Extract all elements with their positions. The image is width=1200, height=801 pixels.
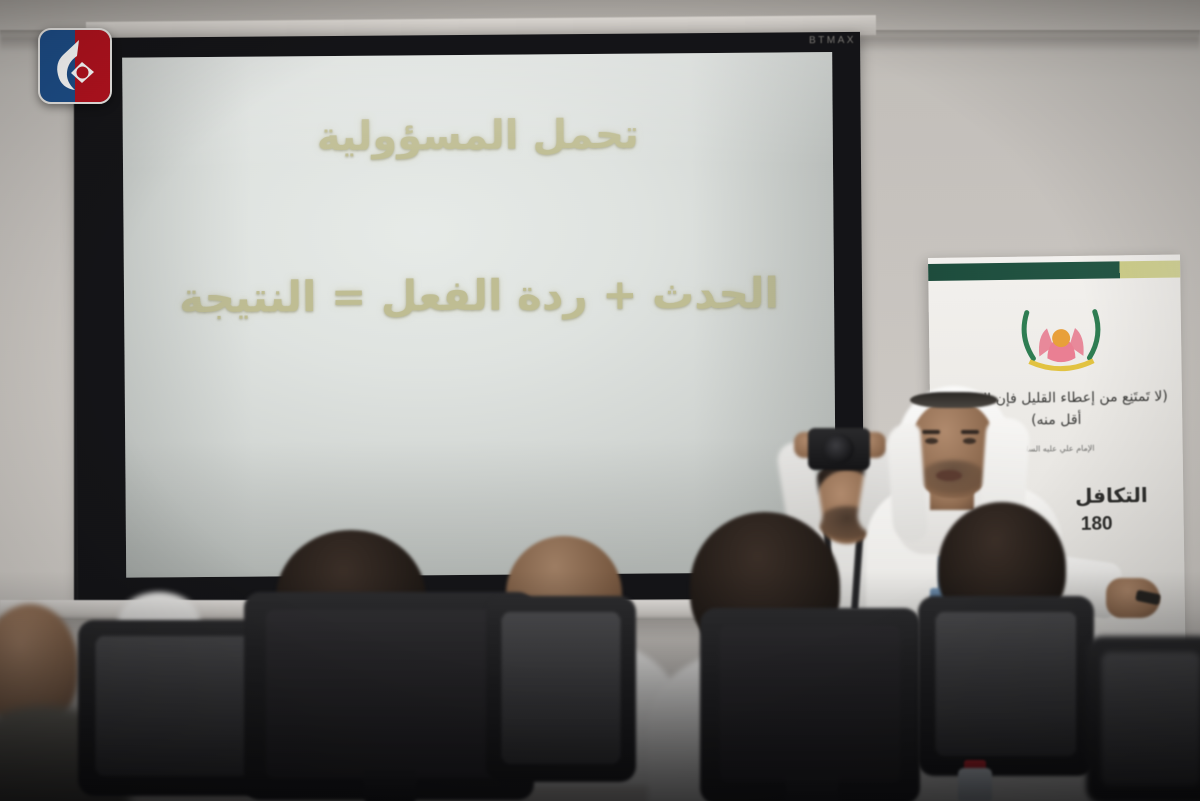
banner-keyword: التكافل <box>1051 483 1171 509</box>
chair-2-post <box>364 768 416 801</box>
slide-title: تحمل المسؤولية <box>123 110 833 162</box>
chair-6 <box>1086 636 1200 801</box>
chair-3-mesh <box>502 612 620 764</box>
speaker-igal-band <box>910 392 998 408</box>
slide-formula: الحدث + ردة الفعل = النتيجة <box>124 268 834 323</box>
chair-6-mesh <box>1102 652 1200 786</box>
banner-top-stripe <box>928 260 1180 281</box>
water-bottle <box>958 768 992 801</box>
chair-4 <box>700 608 920 801</box>
camera-lens <box>824 434 854 464</box>
photo-scene: تحمل المسؤولية الحدث + ردة الفعل = النتي… <box>0 0 1200 801</box>
takaful-hands-logo <box>1017 302 1106 377</box>
speaker-brow-right <box>961 430 979 434</box>
logo-swoosh-mark <box>49 38 101 94</box>
speaker-eye-right <box>963 438 976 444</box>
speaker-mouth <box>936 470 962 481</box>
speaker-brow-left <box>922 430 940 434</box>
channel-logo-badge <box>38 28 112 104</box>
chair-3 <box>486 596 636 782</box>
projection-screen-surface: تحمل المسؤولية الحدث + ردة الفعل = النتي… <box>122 52 836 578</box>
chair-5 <box>918 596 1094 776</box>
speaker-eye-left <box>925 438 938 444</box>
chair-5-mesh <box>936 612 1076 756</box>
chair-2-mesh <box>266 610 512 778</box>
chair-4-mesh <box>720 626 900 782</box>
chair-4-post <box>786 774 838 801</box>
screen-brand-label: BTMAX <box>809 35 856 46</box>
